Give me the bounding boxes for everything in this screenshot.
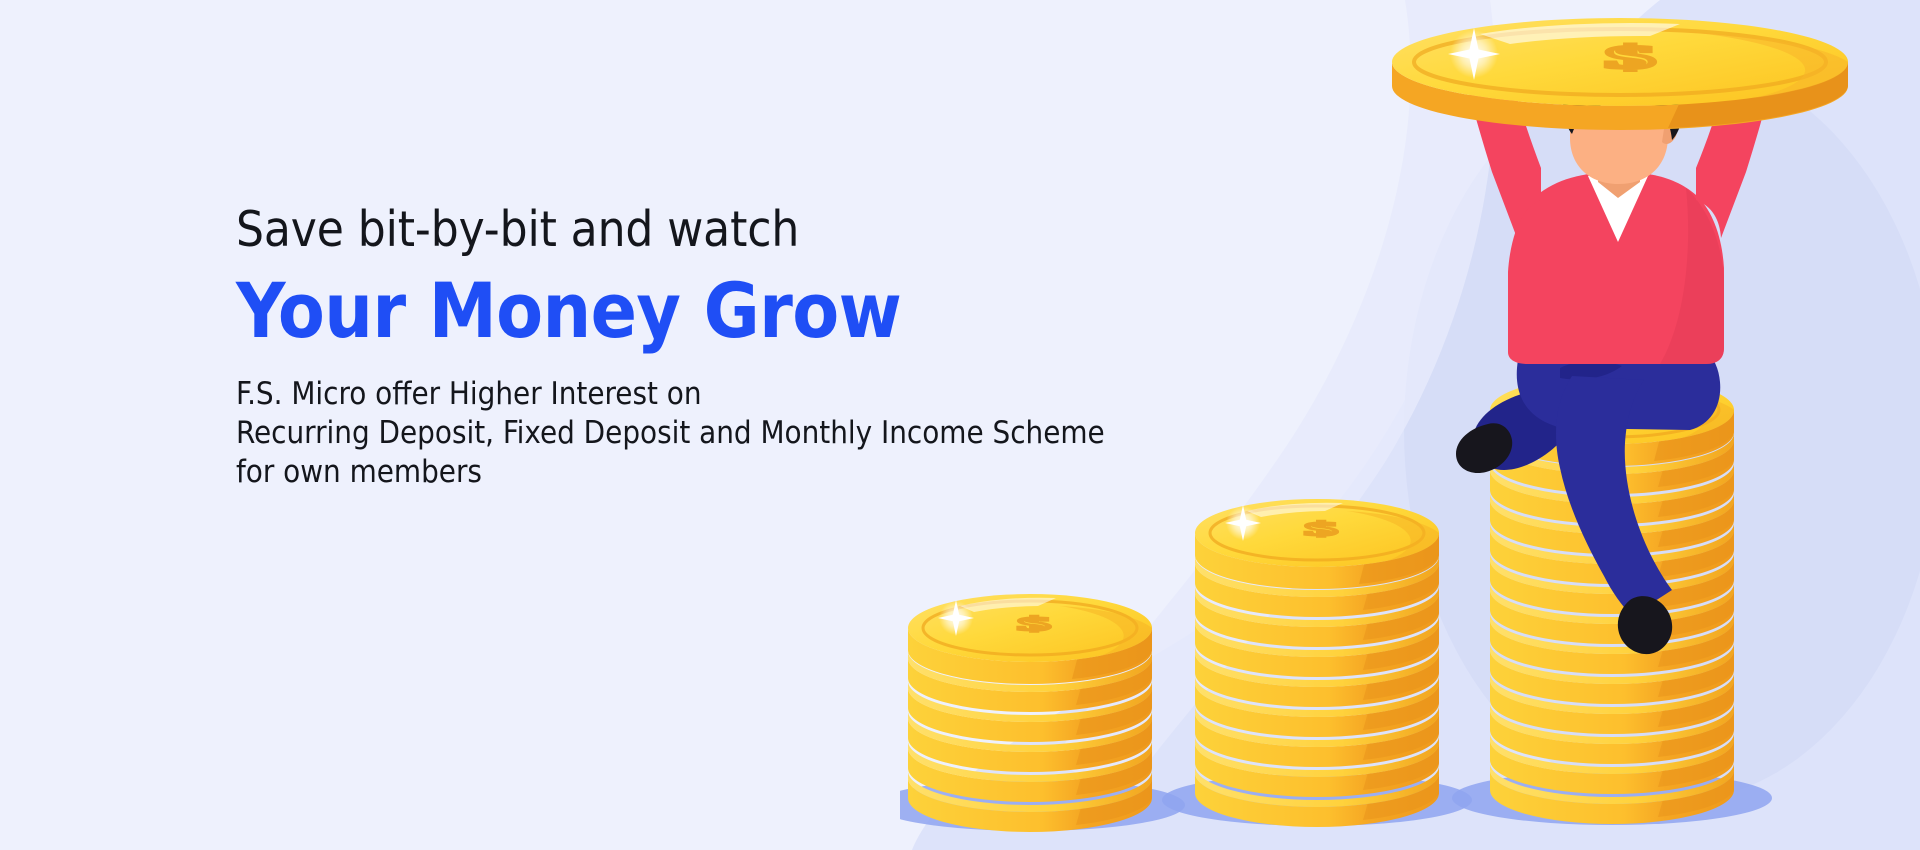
headline-primary: Save bit-by-bit and watch	[236, 205, 1176, 255]
held-coin-dollar-symbol: $	[1605, 39, 1655, 75]
coin-stack-small: $	[908, 594, 1152, 832]
subcopy-line-3: for own members	[236, 453, 1176, 492]
svg-text:$: $	[1305, 518, 1338, 540]
coin-stack-medium: $	[1195, 499, 1439, 827]
svg-text:$: $	[1018, 613, 1051, 635]
copy-block: Save bit-by-bit and watch Your Money Gro…	[236, 205, 1176, 492]
svg-text:$: $	[1605, 39, 1655, 75]
coin-dollar-symbol: $	[1018, 613, 1051, 635]
headline-accent: Your Money Grow	[236, 273, 1176, 349]
subcopy-line-2: Recurring Deposit, Fixed Deposit and Mon…	[236, 414, 1176, 453]
subcopy-line-1: F.S. Micro offer Higher Interest on	[236, 375, 1176, 414]
promo-banner: Save bit-by-bit and watch Your Money Gro…	[0, 0, 1920, 850]
coin-dollar-symbol: $	[1305, 518, 1338, 540]
held-coin: $	[1392, 18, 1848, 130]
subcopy-block: F.S. Micro offer Higher Interest on Recu…	[236, 375, 1176, 492]
